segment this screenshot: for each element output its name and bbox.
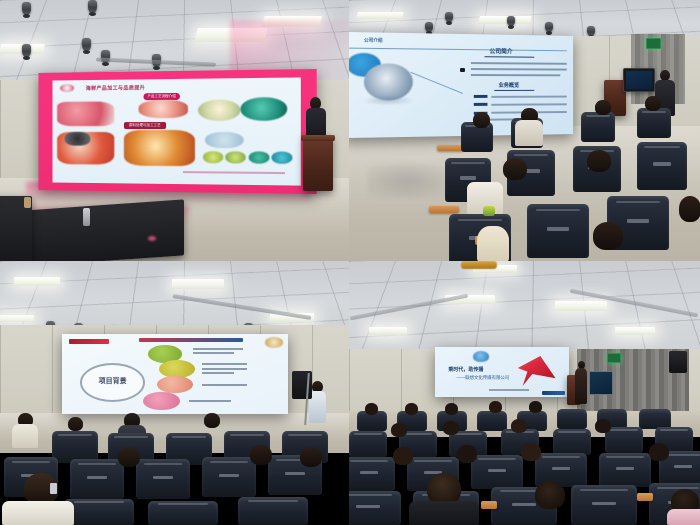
slide-row-value (492, 95, 567, 97)
ceiling-panel-light (14, 277, 60, 286)
audience-head (535, 481, 565, 509)
thermos-cup (83, 208, 90, 226)
slide-header (139, 338, 243, 342)
audience-head (365, 403, 378, 415)
ceiling-panel-light (0, 315, 34, 322)
seat (64, 499, 134, 525)
slide-header: 公司介绍 (364, 38, 382, 44)
audience-head (68, 417, 83, 431)
food-photo (249, 152, 270, 164)
seat (349, 431, 387, 457)
seat (571, 485, 637, 525)
audience-body (477, 226, 509, 261)
food-photo (58, 102, 115, 127)
exit-sign-icon (646, 38, 661, 49)
slide-logo (60, 84, 74, 92)
ceiling-spotlight (22, 2, 31, 15)
photo-collage: 海鲜产品加工与品质提升 产品工艺流程介绍 原料处理与加工工艺 (0, 0, 700, 525)
seat (637, 142, 687, 190)
audience-head (503, 158, 527, 180)
slide-body (471, 68, 566, 70)
seat (238, 497, 308, 525)
audience-body (409, 501, 479, 525)
desk-object (2, 196, 11, 205)
table-glint (148, 236, 156, 241)
audience-head (679, 196, 700, 222)
slide-note (202, 363, 247, 365)
slide-footer-badge (542, 391, 565, 395)
collage-panel-top-right: 公司介绍 公司简介 业务概览 (349, 0, 700, 261)
ceiling-panel-light (555, 301, 607, 311)
slide-note (189, 400, 232, 402)
ceiling (349, 261, 700, 357)
collage-panel-top-left: 海鲜产品加工与品质提升 产品工艺流程介绍 原料处理与加工工艺 (0, 0, 349, 261)
ceiling-panel-light (478, 16, 531, 24)
seat (605, 427, 643, 453)
lecture-hall-scene-2: 公司介绍 公司简介 业务概览 (349, 0, 700, 261)
slide-note (202, 372, 234, 374)
lecture-hall-scene-4: 乘时代，助传播 ——联想文化传媒有限公司 (349, 261, 700, 525)
food-photo (205, 132, 243, 149)
seat-armrest (637, 493, 653, 501)
slide-note (193, 352, 234, 354)
ceiling-spotlight (425, 22, 433, 32)
audience-body (667, 509, 700, 525)
slide-logo-left (69, 339, 110, 345)
slide-bubble-demand (157, 376, 193, 394)
slide-logo-right (265, 337, 283, 347)
food-photo (272, 152, 293, 164)
audience-head (250, 445, 272, 465)
display-board (589, 371, 613, 395)
slide-bubble-market (143, 392, 179, 410)
seat (553, 429, 591, 455)
audience-head (300, 447, 322, 467)
seat-armrest (481, 501, 497, 509)
audience-head (595, 100, 611, 115)
seat (136, 459, 190, 499)
seat (477, 411, 507, 431)
audience-head (649, 443, 669, 461)
audience-head (593, 222, 623, 250)
slide-body (471, 62, 566, 65)
slide-connector-line (410, 71, 463, 93)
phone-in-hand (50, 483, 57, 494)
seat (639, 409, 671, 429)
projection-screen-bottom-right: 乘时代，助传播 ——联想文化传媒有限公司 (435, 347, 569, 397)
floor-reflection (367, 164, 447, 198)
audience-head (405, 403, 418, 415)
seat (637, 108, 671, 138)
audience-head (391, 423, 407, 437)
audience-head (645, 96, 661, 111)
food-photo (203, 151, 223, 163)
ceiling-spotlight (545, 22, 553, 32)
ceiling-panel-light (369, 327, 407, 335)
audience-body (515, 120, 543, 146)
slide-title: 乘时代，助传播 (448, 366, 483, 373)
podium-top-left (303, 135, 333, 191)
ceiling-fixture (461, 261, 497, 269)
food-photo (198, 100, 241, 121)
food-photo (65, 132, 91, 146)
collage-panel-bottom-left: 项目背景 (0, 261, 349, 525)
audience-head (457, 445, 477, 463)
slide-footer (489, 389, 529, 391)
ceiling-spotlight (445, 12, 453, 22)
seat (70, 459, 124, 499)
seat (581, 112, 615, 142)
seat (202, 457, 256, 497)
slide-title-rule (485, 57, 534, 58)
presenter-bottom-right (575, 361, 587, 405)
ceiling-spotlight (82, 38, 91, 51)
ceiling (0, 261, 349, 335)
led-screen-top-left: 海鲜产品加工与品质提升 产品工艺流程介绍 原料处理与加工工艺 (38, 69, 316, 194)
seat (349, 457, 395, 491)
audience-head (489, 401, 502, 413)
led-screen-surface: 海鲜产品加工与品质提升 产品工艺流程介绍 原料处理与加工工艺 (38, 69, 316, 194)
seat (148, 501, 218, 525)
ceiling-spotlight (88, 0, 97, 13)
collage-panel-bottom-right: 乘时代，助传播 ——联想文化传媒有限公司 (349, 261, 700, 525)
slide-title: 公司简介 (489, 47, 512, 56)
seat-armrest (429, 206, 459, 213)
slide-row-label (473, 95, 487, 98)
audience-head (473, 112, 490, 128)
slide-note (202, 368, 247, 370)
lecture-hall-scene-3: 项目背景 (0, 261, 349, 525)
audience-head (443, 421, 459, 435)
slide-subtitle: ——联想文化传媒有限公司 (456, 375, 509, 381)
desk-object (24, 197, 31, 208)
food-photo (226, 152, 246, 164)
audience-head (445, 403, 458, 415)
slide-food-product: 海鲜产品加工与品质提升 产品工艺流程介绍 原料处理与加工工艺 (53, 78, 301, 185)
audience-head (521, 443, 541, 461)
slide-bullet-marker (460, 68, 465, 72)
slide-section-rule (494, 90, 534, 91)
exit-sign-icon (607, 353, 621, 363)
audience-head (118, 447, 140, 467)
audience-head (587, 150, 611, 172)
seat (599, 453, 651, 487)
slide-subtitle: 产品工艺流程介绍 (144, 93, 180, 100)
slide-header-rule (349, 48, 567, 52)
slide-note (202, 384, 247, 386)
ceiling-spotlight (507, 16, 515, 26)
paper-plane-icon (515, 356, 555, 386)
monitor-screen (626, 71, 652, 89)
ceiling-panel-light (172, 279, 224, 289)
slide-title: 海鲜产品加工与品质提升 (86, 84, 145, 92)
seat-armrest (437, 145, 463, 151)
slide-row-value (492, 103, 567, 105)
ceiling-spotlight (22, 44, 31, 57)
slide-decoration-shadow (362, 95, 415, 106)
ceiling-panel-light (356, 12, 403, 19)
audience-body (12, 424, 38, 448)
food-photo (139, 100, 188, 118)
lecture-hall-scene-1: 海鲜产品加工与品质提升 产品工艺流程介绍 原料处理与加工工艺 (0, 0, 349, 261)
ceiling-spotlight (587, 26, 595, 36)
audience-head (529, 401, 542, 413)
food-photo (241, 97, 287, 121)
slide-note (193, 348, 243, 350)
slide-center-bubble: 项目背景 (80, 363, 145, 402)
slide-body (471, 74, 560, 76)
food-photo (124, 130, 195, 166)
seat (471, 455, 523, 489)
slide-section-label: 原料处理与加工工艺 (124, 122, 165, 129)
stage-monitor (623, 68, 655, 92)
ceiling-panel-light (615, 327, 655, 335)
seat-bag (483, 206, 495, 216)
seat (527, 204, 589, 258)
slide-caption (183, 171, 285, 174)
slide-project-background: 项目背景 (62, 334, 288, 414)
led-screen-bottom-left: 项目背景 (62, 334, 288, 414)
slide-title-paper-plane: 乘时代，助传播 ——联想文化传媒有限公司 (435, 347, 569, 397)
seat (349, 491, 401, 525)
projection-surface: 乘时代，助传播 ——联想文化传媒有限公司 (435, 347, 569, 397)
audience-head (511, 419, 527, 433)
slide-logo (473, 351, 489, 362)
audience-head (393, 447, 413, 465)
audience-body (2, 501, 74, 525)
presenter-body (575, 368, 587, 404)
led-screen-surface: 项目背景 (62, 334, 288, 414)
audience-head (204, 413, 220, 428)
slide-section: 业务概览 (499, 81, 520, 89)
seat (557, 409, 587, 429)
wall-speaker (669, 351, 687, 373)
slide-row-label (473, 103, 487, 106)
audience-head (595, 419, 611, 433)
